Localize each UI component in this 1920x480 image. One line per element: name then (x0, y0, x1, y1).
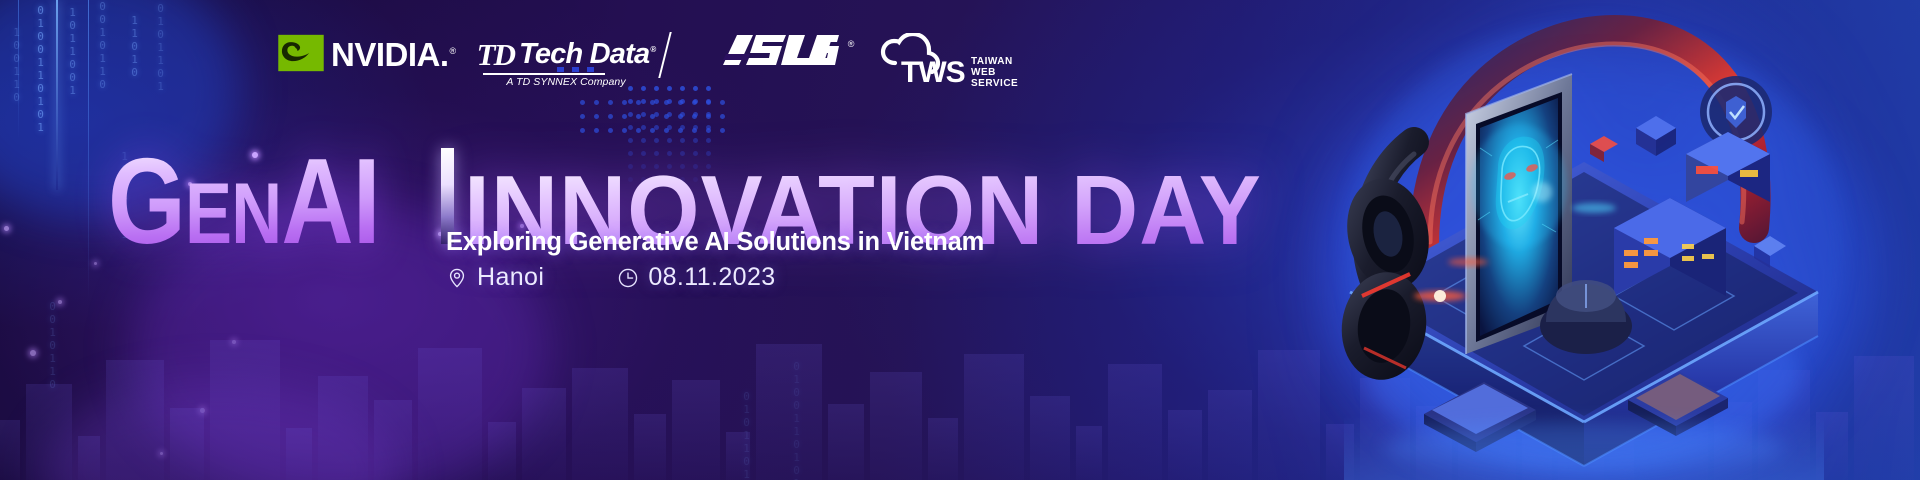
binary-stream-1: 0100110101 (34, 4, 47, 134)
binary-stream-4: 11010 (128, 14, 141, 79)
tech-data-square (587, 67, 594, 72)
binary-stream-2: 1011001 (66, 6, 79, 97)
sponsor-logo-strip: NVIDIA.® TD Tech Data® A TD SYNNEX Compa… (278, 33, 1031, 95)
tech-data-slash-decoration (659, 32, 672, 78)
date-label: 08.11.2023 (648, 263, 775, 292)
event-date: 08.11.2023 (617, 263, 775, 292)
tech-data-tagline: A TD SYNNEX Company (506, 76, 625, 88)
light-streak-2 (88, 0, 89, 300)
genai-brand-text: GENAI (108, 150, 380, 252)
binary-stream-5: 0101101 (154, 2, 167, 93)
binary-stream-3: 0010110 (96, 0, 109, 91)
asus-wordmark (723, 33, 843, 67)
svg-text:TWS: TWS (901, 56, 965, 89)
logo-tws: TWS TAIWAN WEB SERVICE (879, 33, 1031, 91)
particle (94, 262, 97, 265)
event-meta-row: Hanoi 08.11.2023 (446, 263, 776, 292)
binary-stream-6: 100110 (10, 26, 23, 104)
isometric-ai-tech-illustration (1284, 0, 1904, 480)
logo-asus: ® (723, 33, 843, 75)
svg-text:SERVICE: SERVICE (971, 78, 1018, 89)
tws-cloud-icon: TWS TAIWAN WEB SERVICE (879, 33, 1031, 89)
logo-nvidia: NVIDIA.® (278, 33, 456, 73)
event-subtitle: Exploring Generative AI Solutions in Vie… (446, 228, 984, 257)
event-banner: 0100110101 1011001 0010110 11010 0101101… (0, 0, 1920, 480)
nvidia-wordmark: NVIDIA.® (331, 38, 456, 71)
svg-text:WEB: WEB (971, 67, 996, 78)
particle (58, 300, 62, 304)
logo-tech-data: TD Tech Data® A TD SYNNEX Company (477, 33, 656, 88)
tech-data-square (572, 67, 579, 72)
event-location: Hanoi (446, 263, 544, 292)
tech-data-wordmark: Tech Data® (519, 40, 655, 69)
tech-data-square (557, 67, 564, 72)
light-streak-1 (56, 0, 58, 190)
asus-registered-icon: ® (848, 39, 855, 49)
tech-data-monogram: TD (477, 39, 514, 70)
clock-icon (617, 267, 639, 289)
particle (4, 226, 9, 231)
location-pin-icon (446, 267, 468, 289)
tech-data-underbar (483, 73, 605, 75)
location-label: Hanoi (477, 263, 544, 292)
svg-text:TAIWAN: TAIWAN (971, 56, 1013, 67)
nvidia-eye-icon (278, 33, 324, 73)
